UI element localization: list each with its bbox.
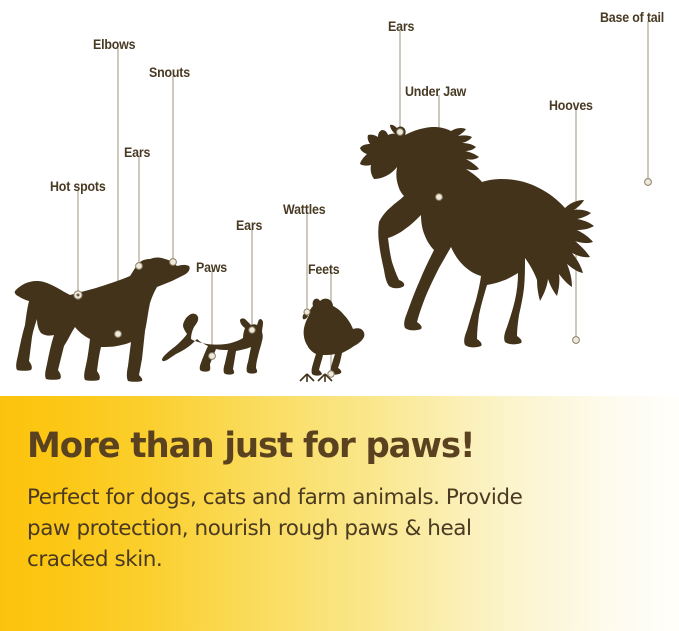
chicken-silhouette [300, 299, 364, 382]
callout-label-horse-ears: Ears [388, 20, 414, 34]
horse-under-jaw-marker [436, 194, 443, 201]
callout-label-elbows: Elbows [93, 38, 135, 52]
chicken-feet-marker [328, 371, 334, 377]
animal-silhouettes [0, 0, 679, 396]
dog-silhouette [15, 258, 190, 382]
cat-paw-marker [209, 353, 216, 360]
banner-body-line-1: Perfect for dogs, cats and farm animals.… [27, 482, 652, 513]
dog-snout-marker [170, 259, 177, 266]
illustration-area: Hot spots Ears Elbows Snouts Paws Ears F… [0, 0, 679, 396]
callout-label-cat-ears: Ears [236, 219, 262, 233]
cat-ear-marker [249, 327, 255, 333]
banner-headline: More than just for paws! [27, 429, 474, 464]
promo-banner: More than just for paws! Perfect for dog… [0, 396, 679, 631]
callout-label-wattles: Wattles [283, 203, 325, 217]
banner-body-line-2: paw protection, nourish rough paws & hea… [27, 513, 652, 544]
callout-label-paws: Paws [196, 261, 227, 275]
dog-ear-marker [136, 263, 143, 270]
dog-elbow-marker [115, 331, 122, 338]
banner-body-copy: Perfect for dogs, cats and farm animals.… [27, 482, 652, 575]
infographic: Hot spots Ears Elbows Snouts Paws Ears F… [0, 0, 679, 631]
callout-label-dog-ears: Ears [124, 146, 150, 160]
callout-label-hot-spots: Hot spots [50, 180, 106, 194]
callout-label-feets: Feets [308, 263, 340, 277]
callout-label-snouts: Snouts [149, 66, 190, 80]
chicken-foot-left [300, 374, 314, 382]
horse-silhouette [360, 125, 651, 348]
horse-base-of-tail-marker [645, 179, 652, 186]
callout-label-under-jaw: Under Jaw [405, 85, 466, 99]
banner-body-line-3: cracked skin. [27, 544, 652, 575]
chicken-wattle-marker [304, 309, 310, 315]
horse-hooves-marker [573, 337, 580, 344]
callout-label-hooves: Hooves [549, 99, 593, 113]
horse-ear-marker [397, 129, 404, 136]
callout-label-base-of-tail: Base of tail [600, 11, 664, 25]
